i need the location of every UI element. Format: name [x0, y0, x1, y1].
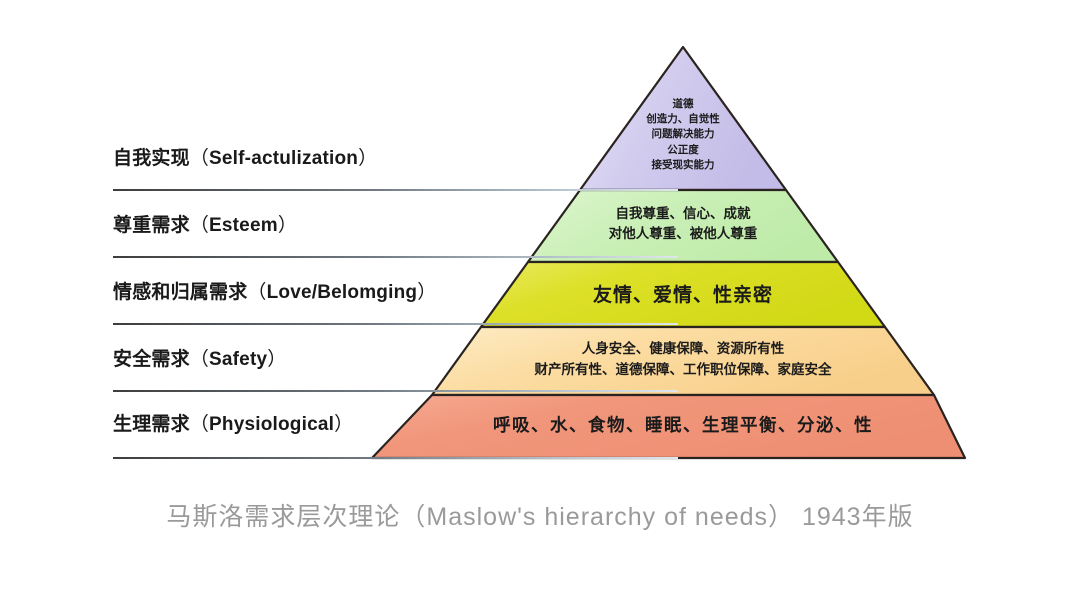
- tier-label-paren-close: ）: [358, 148, 377, 169]
- divider-safety: [113, 390, 678, 392]
- tier-content-line: 创造力、自觉性: [646, 112, 720, 127]
- tier-label-en: Self-actulization: [209, 148, 358, 169]
- tier-label-cn: 生理需求: [113, 414, 190, 435]
- tier-label-paren-close: ）: [417, 282, 436, 303]
- tier-label-cn: 自我实现: [113, 148, 190, 169]
- tier-content-line: 呼吸、水、食物、睡眠、生理平衡、分泌、性: [493, 414, 873, 437]
- tier-label-en: Esteem: [209, 215, 278, 236]
- tier-label-cn: 安全需求: [113, 349, 190, 370]
- tier-label-safety: 安全需求（Safety）: [113, 350, 286, 369]
- tier-label-cn: 尊重需求: [113, 215, 190, 236]
- tier-content-line: 财产所有性、道德保障、工作职位保障、家庭安全: [535, 360, 832, 381]
- tier-content-self-actualization: 道德 创造力、自觉性 问题解决能力 公正度 接受现实能力: [646, 97, 720, 173]
- tier-content-line: 对他人尊重、被他人尊重: [609, 224, 758, 244]
- tier-label-en: Safety: [209, 349, 267, 370]
- tier-label-paren-open: （: [247, 282, 266, 303]
- tier-label-cn: 情感和归属需求: [113, 282, 247, 303]
- tier-label-paren-open: （: [190, 349, 209, 370]
- tier-content-line: 道德: [646, 97, 720, 112]
- divider-esteem: [113, 256, 678, 258]
- tier-content-line: 问题解决能力: [646, 127, 720, 142]
- tier-label-paren-open: （: [190, 148, 209, 169]
- tier-label-en: Love/Belomging: [267, 282, 418, 303]
- tier-content-line: 自我尊重、信心、成就: [609, 204, 758, 224]
- tier-content-line: 人身安全、健康保障、资源所有性: [535, 339, 832, 360]
- tier-content-line: 接受现实能力: [646, 158, 720, 173]
- tier-label-physiological: 生理需求（Physiological）: [113, 415, 353, 434]
- tier-label-paren-open: （: [190, 215, 209, 236]
- tier-label-esteem: 尊重需求（Esteem）: [113, 216, 297, 235]
- tier-content-line: 友情、爱情、性亲密: [593, 283, 773, 308]
- tier-content-line: 公正度: [646, 143, 720, 158]
- tier-content-esteem: 自我尊重、信心、成就 对他人尊重、被他人尊重: [609, 204, 758, 245]
- tier-label-paren-close: ）: [278, 215, 297, 236]
- tier-content-safety: 人身安全、健康保障、资源所有性 财产所有性、道德保障、工作职位保障、家庭安全: [535, 339, 832, 381]
- divider-physiological: [113, 457, 678, 459]
- tier-content-physiological: 呼吸、水、食物、睡眠、生理平衡、分泌、性: [493, 414, 873, 437]
- tier-label-paren-open: （: [190, 414, 209, 435]
- tier-label-paren-close: ）: [334, 414, 353, 435]
- tier-label-paren-close: ）: [267, 349, 286, 370]
- tier-content-love-belonging: 友情、爱情、性亲密: [593, 283, 773, 308]
- tier-label-self-actualization: 自我实现（Self-actulization）: [113, 149, 377, 168]
- diagram-caption: 马斯洛需求层次理论（Maslow's hierarchy of needs） 1…: [0, 497, 1080, 533]
- divider-love-belonging: [113, 323, 678, 325]
- maslow-hierarchy-diagram: 自我实现（Self-actulization） 尊重需求（Esteem） 情感和…: [0, 0, 1080, 600]
- tier-label-en: Physiological: [209, 414, 334, 435]
- tier-label-love-belonging: 情感和归属需求（Love/Belomging）: [113, 283, 436, 302]
- divider-self-actualization: [113, 189, 678, 191]
